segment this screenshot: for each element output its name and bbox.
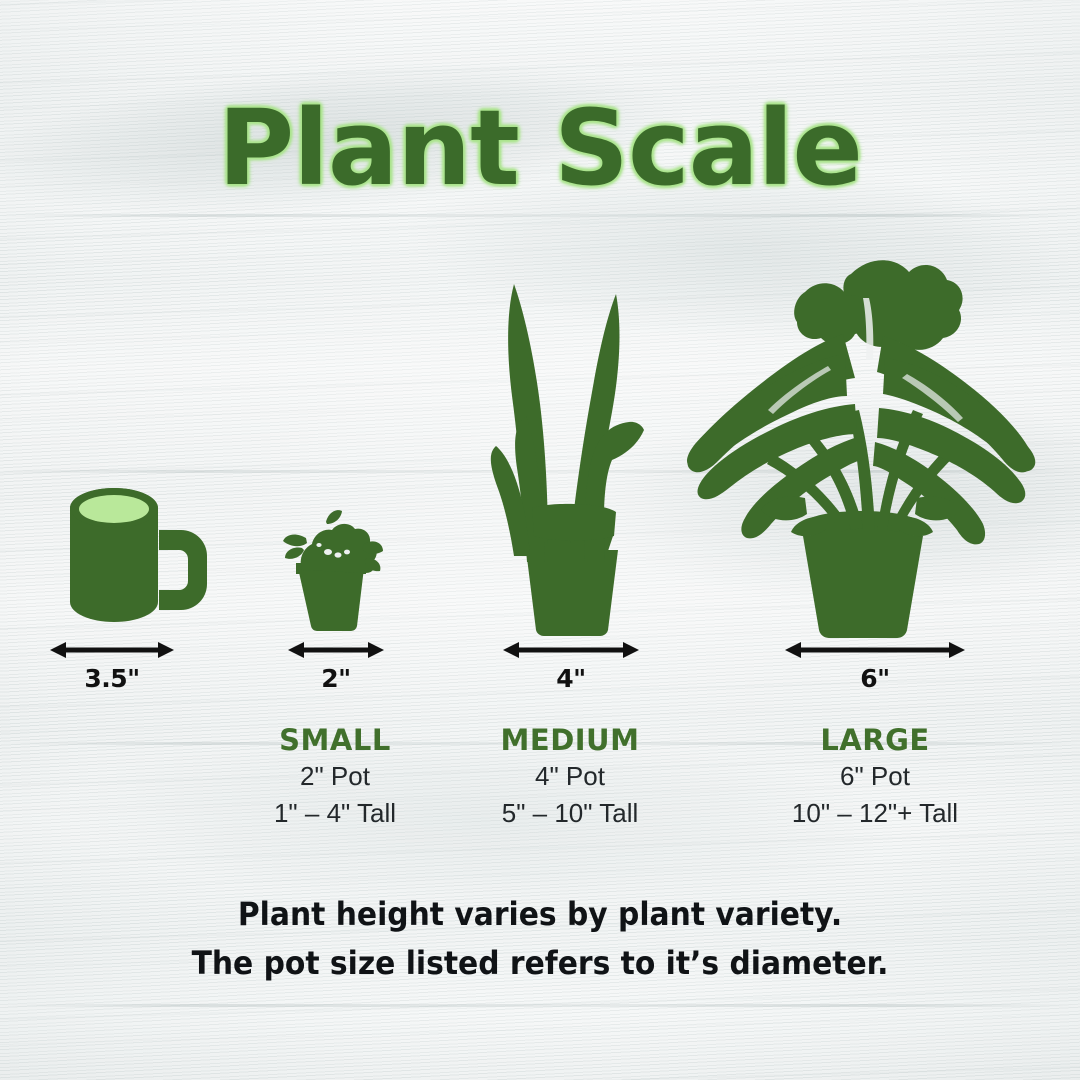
category-height-range: 5" – 10" Tall [430,795,710,832]
snake-plant-icon [492,278,660,640]
small-plant-icon [272,508,390,630]
category-name: LARGE [735,724,1015,758]
dimension-label: 2" [288,664,384,693]
category-name: MEDIUM [430,724,710,758]
category-pot-size: 4" Pot [430,758,710,795]
footer-line-2: The pot size listed refers to it’s diame… [38,939,1042,988]
dimension-label: 3.5" [50,664,174,693]
dimension-arrow-mug: 3.5" [50,640,174,660]
category-pot-size: 6" Pot [735,758,1015,795]
size-category-medium: MEDIUM 4" Pot 5" – 10" Tall [430,724,710,831]
footer-line-1: Plant height varies by plant variety. [38,890,1042,939]
plant-scale-infographic: Plant Scale [0,0,1080,1080]
dimension-arrow-large: 6" [785,640,965,660]
dimension-arrow-small: 2" [288,640,384,660]
size-category-large: LARGE 6" Pot 10" – 12"+ Tall [735,724,1015,831]
dimension-arrow-medium: 4" [503,640,639,660]
coffee-mug-icon [56,482,216,630]
large-foliage-plant-icon [655,258,1067,644]
footer-note: Plant height varies by plant variety. Th… [0,890,1080,987]
category-height-range: 10" – 12"+ Tall [735,795,1015,832]
dimension-label: 4" [503,664,639,693]
dimension-label: 6" [785,664,965,693]
